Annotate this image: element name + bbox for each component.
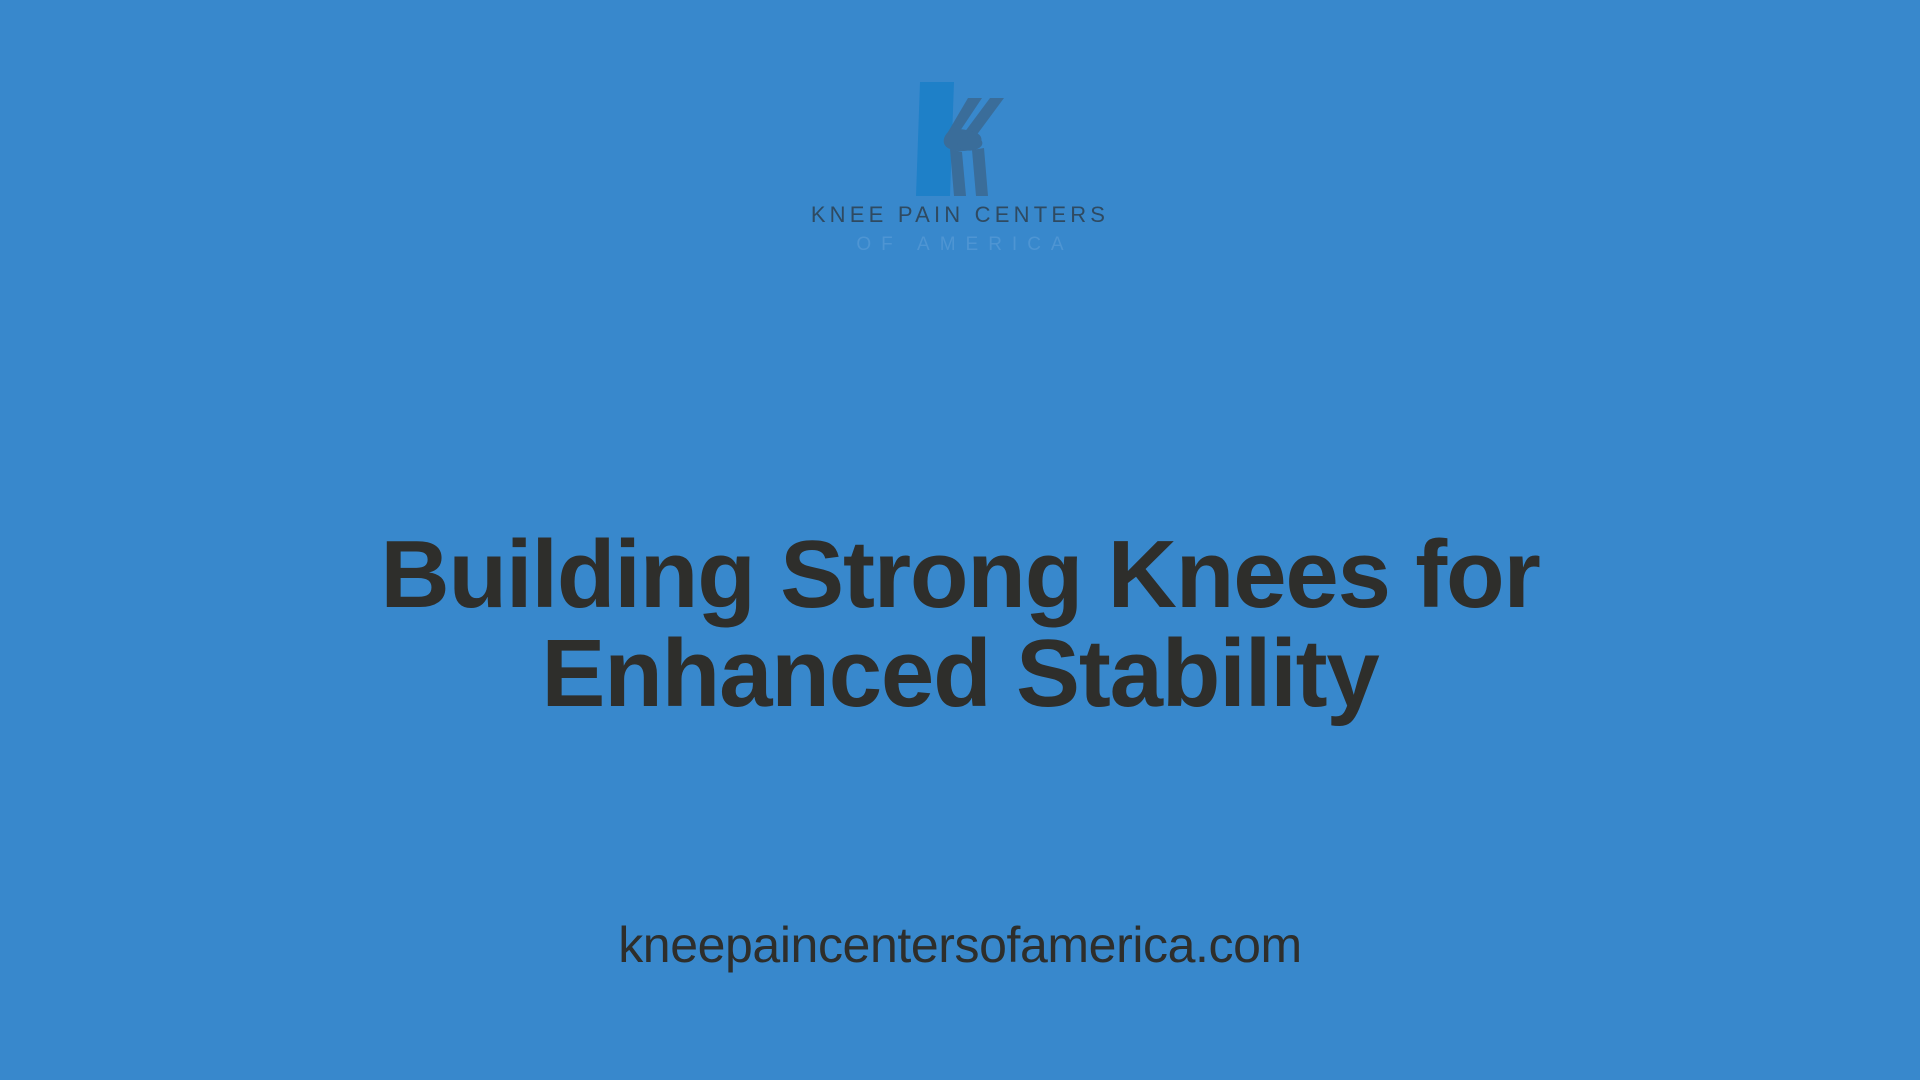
logo-subwordmark: OF AMERICA <box>846 235 1073 254</box>
page-title: Building Strong Knees for Enhanced Stabi… <box>0 526 1920 724</box>
knee-joint-k-logo-icon <box>904 80 1016 198</box>
page-title-line-2: Enhanced Stability <box>200 625 1720 724</box>
site-url[interactable]: kneepaincentersofamerica.com <box>0 915 1920 975</box>
page-title-line-1: Building Strong Knees for <box>200 526 1720 625</box>
brand-logo-block: KNEE PAIN CENTERS OF AMERICA <box>0 80 1920 254</box>
social-share-card: KNEE PAIN CENTERS OF AMERICA Building St… <box>0 0 1920 1080</box>
logo-wordmark: KNEE PAIN CENTERS <box>811 204 1109 226</box>
